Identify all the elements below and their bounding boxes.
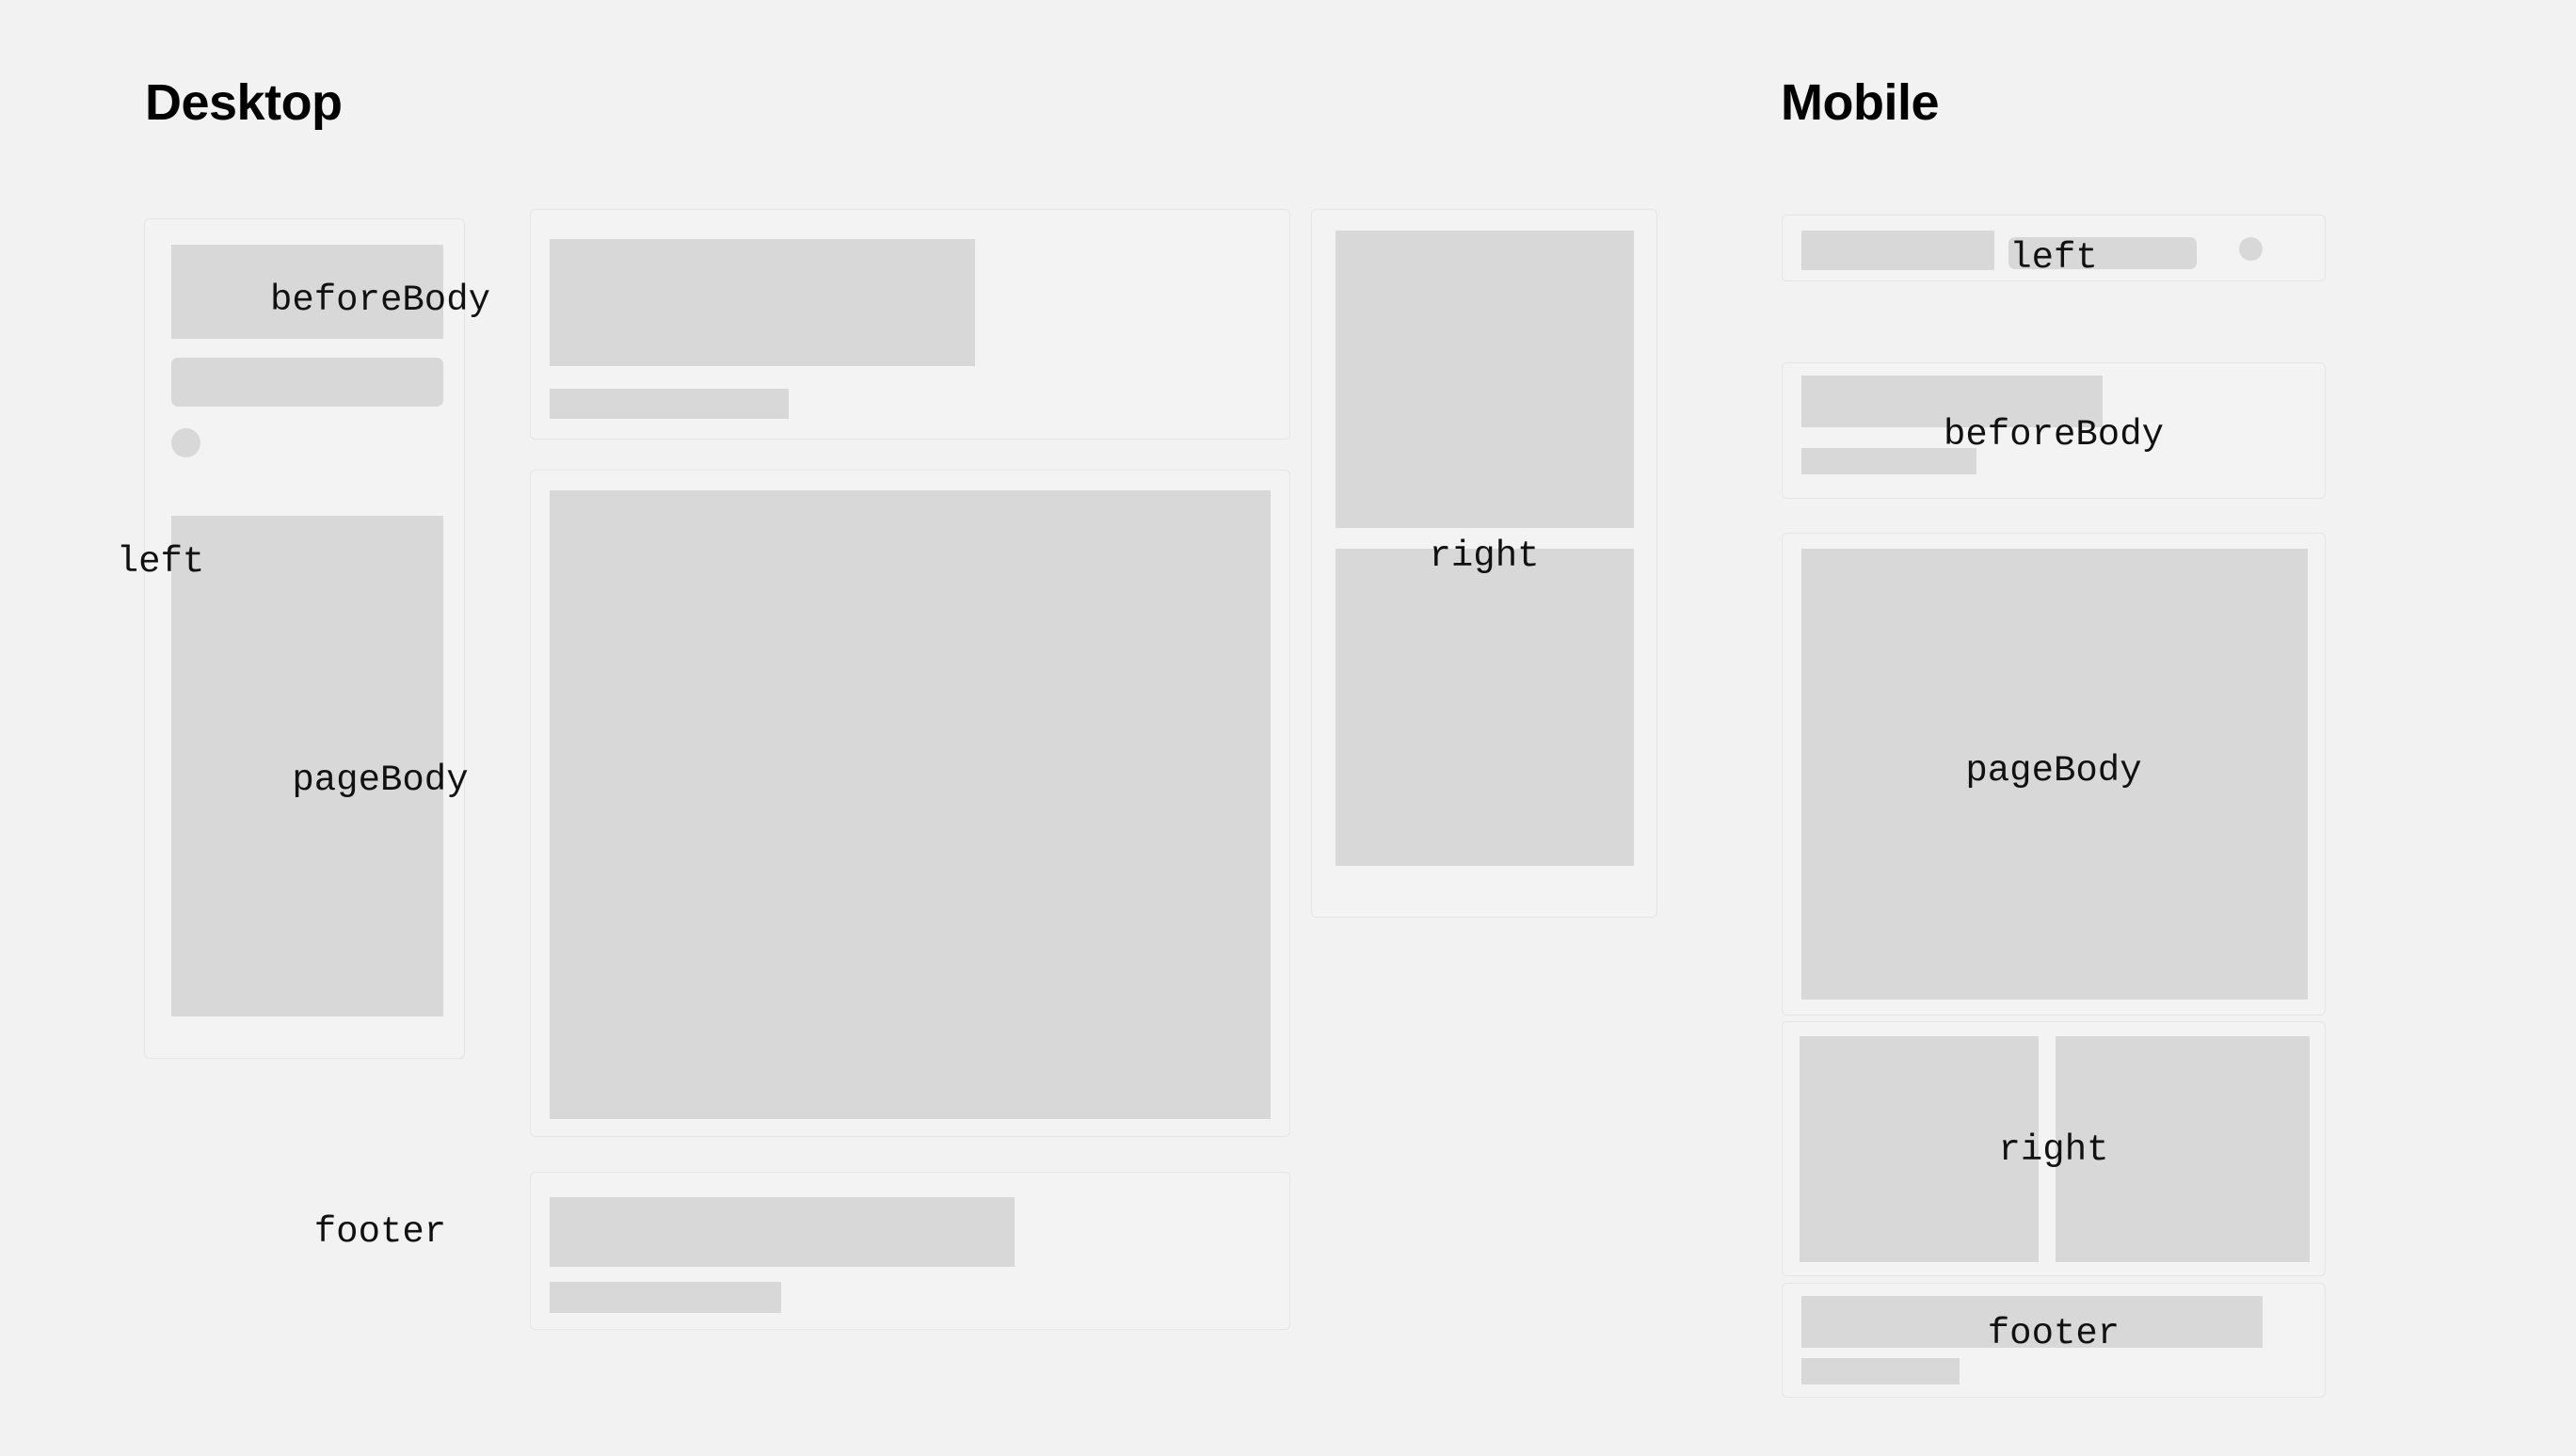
skeleton-bar-small: [550, 1282, 781, 1313]
skeleton-block-large: [550, 239, 975, 366]
desktop-before-body-slot-panel[interactable]: [530, 209, 1290, 440]
skeleton-block-fill: [1801, 549, 2308, 1000]
skeleton-block-header: [171, 245, 443, 339]
skeleton-block-header: [1801, 231, 1994, 270]
skeleton-circle-avatar: [171, 428, 200, 457]
skeleton-bar-wide: [550, 1197, 1015, 1267]
desktop-page-body-slot-panel[interactable]: [530, 470, 1290, 1137]
skeleton-bar-small: [1801, 1358, 1960, 1384]
skeleton-block-left: [1800, 1036, 2039, 1262]
skeleton-bar-small: [1801, 448, 1976, 474]
desktop-right-slot-panel[interactable]: [1311, 209, 1657, 918]
skeleton-block-bottom: [1336, 549, 1634, 866]
skeleton-bar-rounded: [171, 358, 443, 407]
skeleton-bar-rounded: [2008, 237, 2197, 269]
skeleton-block-large: [1801, 376, 2103, 427]
desktop-left-slot-panel[interactable]: [144, 218, 465, 1059]
skeleton-block-right: [2056, 1036, 2310, 1262]
mobile-page-body-slot-panel[interactable]: [1782, 533, 2326, 1016]
desktop-footer-slot-panel[interactable]: [530, 1172, 1290, 1330]
skeleton-bar-wide: [1801, 1296, 2263, 1348]
skeleton-block-body: [171, 516, 443, 1016]
mobile-left-slot-panel[interactable]: [1782, 215, 2326, 281]
skeleton-block-top: [1336, 231, 1634, 528]
desktop-section-heading: Desktop: [145, 77, 343, 128]
mobile-right-slot-panel[interactable]: [1782, 1021, 2326, 1276]
mobile-footer-slot-panel[interactable]: [1782, 1283, 2326, 1398]
skeleton-block-fill: [550, 490, 1271, 1119]
mobile-section-heading: Mobile: [1781, 77, 1939, 128]
skeleton-circle-avatar: [2239, 237, 2263, 261]
mobile-before-body-slot-panel[interactable]: [1782, 362, 2326, 499]
skeleton-bar-small: [550, 389, 789, 419]
